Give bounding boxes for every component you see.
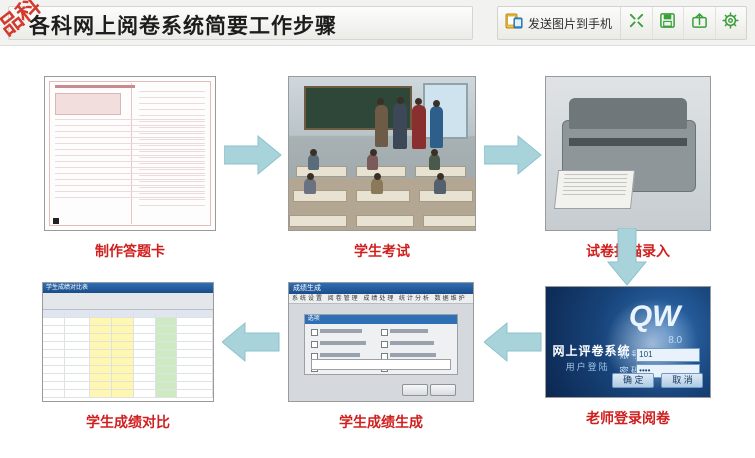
- step-6[interactable]: 学生成绩对比表: [42, 282, 214, 432]
- checkbox[interactable]: [381, 341, 388, 348]
- table-row[interactable]: [43, 366, 213, 374]
- step-4[interactable]: QW 8.0 网上评卷系统 用户登陆 账 号 101 密 码 •••• 确 定 …: [545, 286, 711, 428]
- share-icon: [691, 12, 708, 34]
- spreadsheet-title: 学生成绩对比表: [43, 283, 213, 293]
- arrow-step2-step3: [484, 134, 542, 181]
- table-row[interactable]: [43, 326, 213, 334]
- checkbox-label: [390, 341, 434, 345]
- step-1[interactable]: 制作答题卡: [44, 76, 216, 261]
- login-account-input[interactable]: 101: [636, 348, 700, 362]
- checkbox-label: [320, 341, 366, 345]
- save-icon: [659, 12, 676, 34]
- gear-icon: [722, 12, 739, 34]
- table-row[interactable]: [43, 350, 213, 358]
- exam-room-photo-thumbnail[interactable]: [288, 76, 476, 231]
- settings-dialog-thumbnail[interactable]: 成绩生成 系统设置 阅卷管理 成绩处理 统计分析 数据维护 个人信息 选项: [288, 282, 474, 402]
- answer-sheet-thumbnail[interactable]: [44, 76, 216, 231]
- dialog-title: 成绩生成: [289, 283, 473, 294]
- arrow-step1-step2: [224, 134, 282, 181]
- checkbox-label: [320, 329, 362, 333]
- arrow-step3-step4: [606, 228, 648, 291]
- arrow-step4-step5: [484, 321, 542, 368]
- table-row[interactable]: [43, 374, 213, 382]
- save-button[interactable]: [653, 7, 685, 39]
- send-to-phone-label: 发送图片到手机: [528, 15, 612, 32]
- flow-canvas: 制作答题卡: [0, 46, 755, 458]
- step-2-caption: 学生考试: [288, 241, 476, 261]
- spreadsheet-thumbnail[interactable]: 学生成绩对比表: [42, 282, 214, 402]
- page-title: 各科网上阅卷系统简要工作步骤: [29, 10, 337, 40]
- dialog-ok-button[interactable]: [402, 384, 428, 396]
- table-row[interactable]: [43, 390, 213, 398]
- send-to-phone-button[interactable]: 发送图片到手机: [498, 7, 621, 39]
- toolbar: 发送图片到手机: [497, 6, 747, 40]
- scanner-photo-thumbnail[interactable]: [545, 76, 711, 231]
- arrow-step5-step6: [222, 321, 280, 368]
- fullscreen-button[interactable]: [621, 7, 653, 39]
- login-subtitle: 用户登陆: [566, 360, 610, 373]
- table-row[interactable]: [43, 318, 213, 326]
- step-2[interactable]: 学生考试: [288, 76, 476, 261]
- login-logo-sub: 8.0: [668, 335, 682, 346]
- step-5[interactable]: 成绩生成 系统设置 阅卷管理 成绩处理 统计分析 数据维护 个人信息 选项: [288, 282, 474, 432]
- header-bar: 各科网上阅卷系统简要工作步骤 发送图片到手机: [0, 0, 755, 46]
- table-row[interactable]: [43, 358, 213, 366]
- dialog-panel-title: 选项: [305, 315, 458, 324]
- step-6-caption: 学生成绩对比: [42, 412, 214, 432]
- checkbox[interactable]: [381, 329, 388, 336]
- step-4-caption: 老师登录阅卷: [545, 408, 711, 428]
- table-row[interactable]: [43, 382, 213, 390]
- login-logo: QW: [629, 300, 681, 334]
- spreadsheet-ribbon: [43, 293, 213, 310]
- dialog-cancel-button[interactable]: [430, 384, 456, 396]
- dialog-text-input[interactable]: [311, 359, 452, 370]
- step-1-caption: 制作答题卡: [44, 241, 216, 261]
- page-title-plate: 各科网上阅卷系统简要工作步骤: [8, 6, 473, 40]
- login-cancel-button[interactable]: 取 消: [661, 373, 703, 388]
- phone-image-icon: [505, 12, 523, 35]
- settings-button[interactable]: [716, 7, 747, 39]
- table-header-row: [43, 310, 213, 318]
- share-button[interactable]: [684, 7, 716, 39]
- fullscreen-icon: [628, 12, 645, 34]
- dialog-menubar: 系统设置 阅卷管理 成绩处理 统计分析 数据维护 个人信息: [289, 294, 473, 304]
- login-account-value: 101: [637, 349, 699, 361]
- table-row[interactable]: [43, 342, 213, 350]
- checkbox[interactable]: [311, 329, 318, 336]
- login-screen-thumbnail[interactable]: QW 8.0 网上评卷系统 用户登陆 账 号 101 密 码 •••• 确 定 …: [545, 286, 711, 398]
- checkbox-label: [390, 353, 436, 357]
- step-5-caption: 学生成绩生成: [288, 412, 474, 432]
- spreadsheet-grid[interactable]: [43, 310, 213, 401]
- checkbox-label: [390, 329, 428, 333]
- table-row[interactable]: [43, 334, 213, 342]
- checkbox[interactable]: [311, 341, 318, 348]
- login-ok-button[interactable]: 确 定: [612, 373, 654, 388]
- checkbox-label: [320, 353, 360, 357]
